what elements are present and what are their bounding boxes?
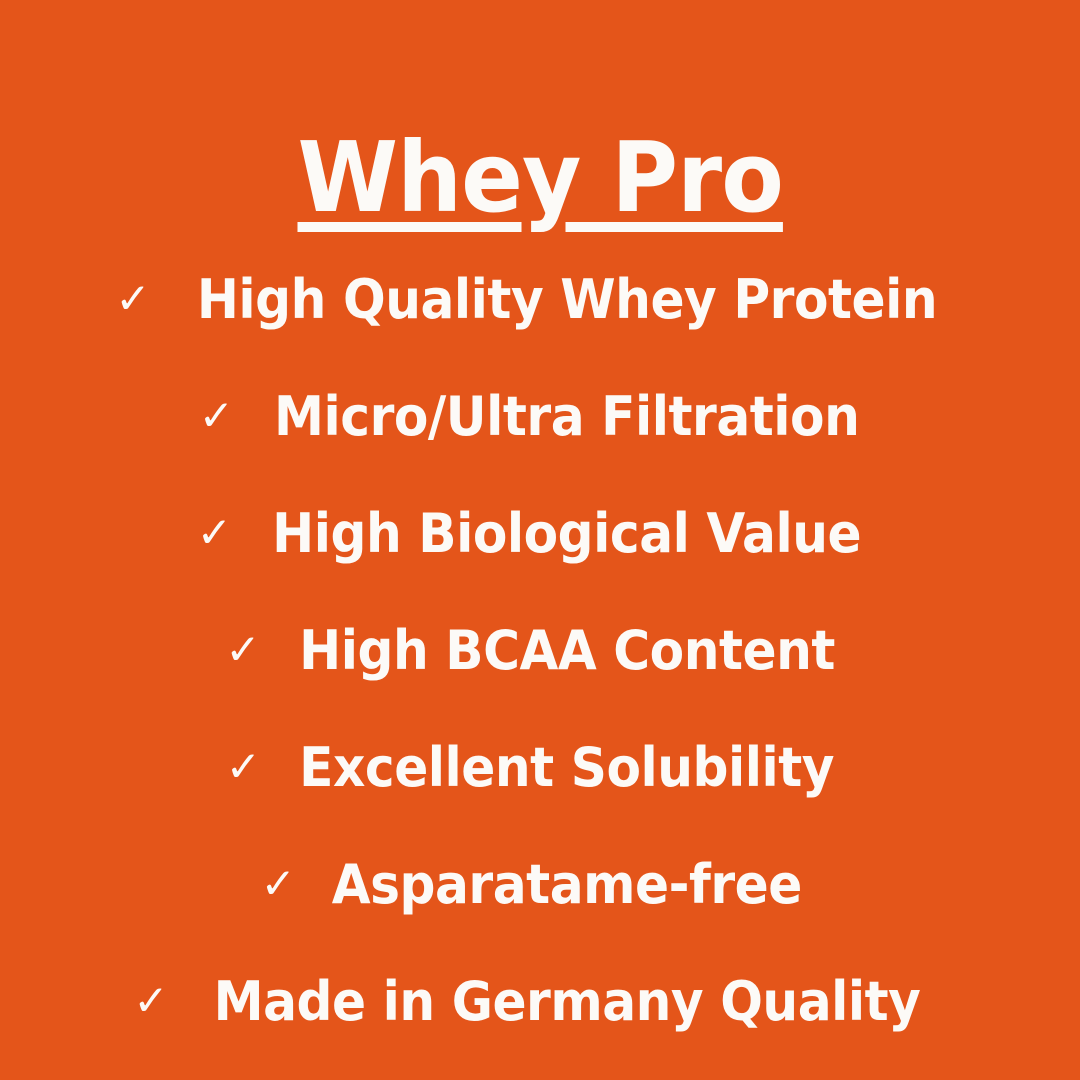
feature-label: Made in Germany Quality bbox=[213, 974, 920, 1031]
check-icon: ✓ bbox=[199, 395, 234, 437]
product-feature-poster: Whey Pro ✓ High Quality Whey Protein ✓ M… bbox=[0, 0, 1080, 1080]
feature-label: High BCAA Content bbox=[299, 623, 835, 680]
feature-label: Asparatame-free bbox=[332, 857, 802, 914]
feature-label: High Biological Value bbox=[272, 506, 861, 563]
check-icon: ✓ bbox=[225, 629, 260, 671]
feature-list: ✓ High Quality Whey Protein ✓ Micro/Ultr… bbox=[0, 242, 1080, 1061]
list-item: ✓ Made in Germany Quality bbox=[133, 944, 946, 1061]
feature-label: Excellent Solubility bbox=[299, 740, 834, 797]
feature-label: High Quality Whey Protein bbox=[196, 272, 936, 329]
list-item: ✓ High Biological Value bbox=[197, 476, 883, 593]
list-item: ✓ Excellent Solubility bbox=[226, 710, 854, 827]
check-icon: ✓ bbox=[115, 278, 150, 320]
feature-label: Micro/Ultra Filtration bbox=[274, 389, 859, 446]
check-icon: ✓ bbox=[133, 980, 168, 1022]
page-title-container: Whey Pro bbox=[0, 62, 1080, 178]
list-item: ✓ High Quality Whey Protein bbox=[115, 242, 964, 359]
page-title: Whey Pro bbox=[297, 127, 782, 229]
list-item: ✓ Asparatame-free bbox=[261, 827, 820, 944]
list-item: ✓ High BCAA Content bbox=[225, 593, 854, 710]
list-item: ✓ Micro/Ultra Filtration bbox=[199, 359, 882, 476]
check-icon: ✓ bbox=[261, 863, 296, 905]
check-icon: ✓ bbox=[197, 512, 232, 554]
check-icon: ✓ bbox=[226, 746, 261, 788]
